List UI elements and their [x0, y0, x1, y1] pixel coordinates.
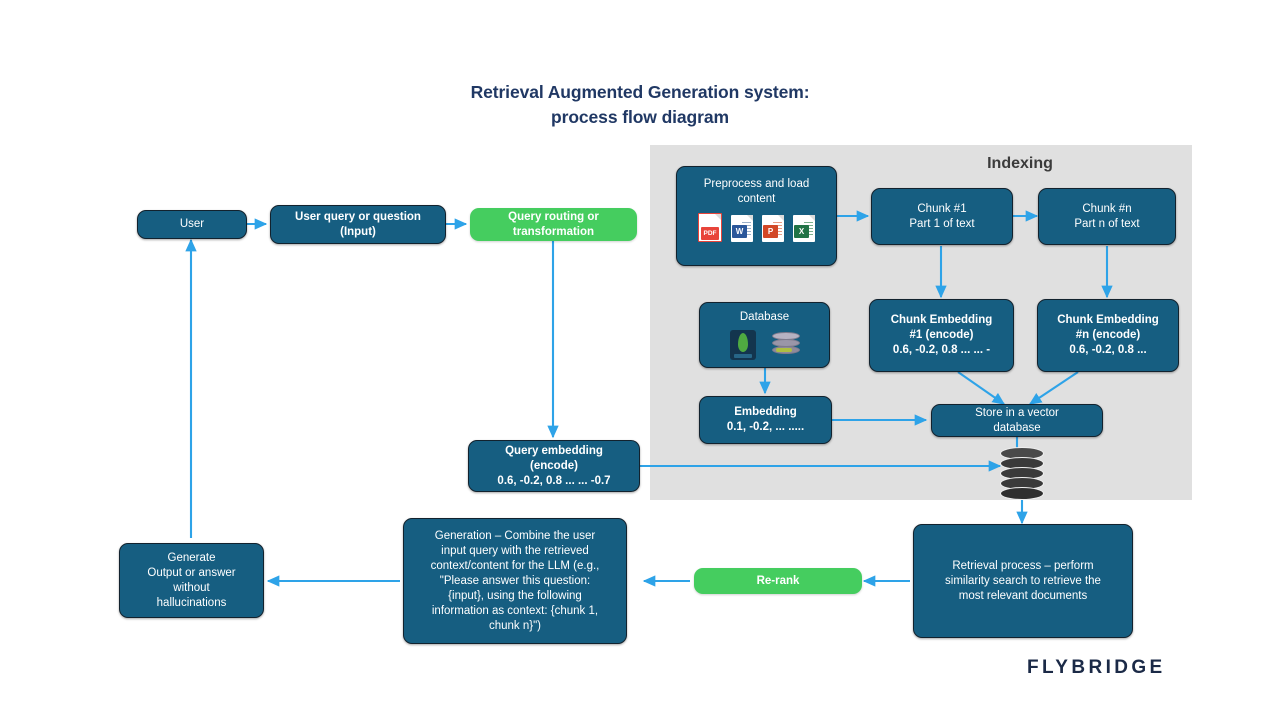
node-generation[interactable]: Generation – Combine the user input quer… — [403, 518, 627, 644]
node-chunk-n[interactable]: Chunk #n Part n of text — [1038, 188, 1176, 245]
node-user-query[interactable]: User query or question (Input) — [270, 205, 446, 244]
node-preprocess-load-content[interactable]: Preprocess and load content PDF W P X — [676, 166, 837, 266]
node-chunk-embedding-1[interactable]: Chunk Embedding #1 (encode) 0.6, -0.2, 0… — [869, 299, 1014, 372]
node-embedding[interactable]: Embedding 0.1, -0.2, ... ..... — [699, 396, 832, 444]
node-generate-output[interactable]: Generate Output or answer without halluc… — [119, 543, 264, 618]
word-file-icon: W — [731, 215, 753, 242]
node-retrieval-process[interactable]: Retrieval process – perform similarity s… — [913, 524, 1133, 638]
node-store-in-vector-database[interactable]: Store in a vector database — [931, 404, 1103, 437]
database-cylinder-icon — [772, 332, 800, 358]
diagram-canvas: Retrieval Augmented Generation system: p… — [0, 0, 1280, 720]
node-chunk-1[interactable]: Chunk #1 Part 1 of text — [871, 188, 1013, 245]
node-chunk-embedding-n[interactable]: Chunk Embedding #n (encode) 0.6, -0.2, 0… — [1037, 299, 1179, 372]
node-user[interactable]: User — [137, 210, 247, 239]
mongodb-icon — [730, 330, 756, 360]
node-re-rank[interactable]: Re-rank — [694, 568, 862, 594]
excel-file-icon: X — [793, 215, 815, 242]
database-icon-row — [730, 330, 800, 360]
vector-database-icon — [1000, 447, 1044, 501]
powerpoint-file-icon: P — [762, 215, 784, 242]
file-icon-row: PDF W P X — [698, 213, 815, 242]
node-database[interactable]: Database — [699, 302, 830, 368]
node-query-routing[interactable]: Query routing or transformation — [470, 208, 637, 241]
node-query-embedding[interactable]: Query embedding (encode) 0.6, -0.2, 0.8 … — [468, 440, 640, 492]
pdf-file-icon: PDF — [698, 213, 722, 242]
